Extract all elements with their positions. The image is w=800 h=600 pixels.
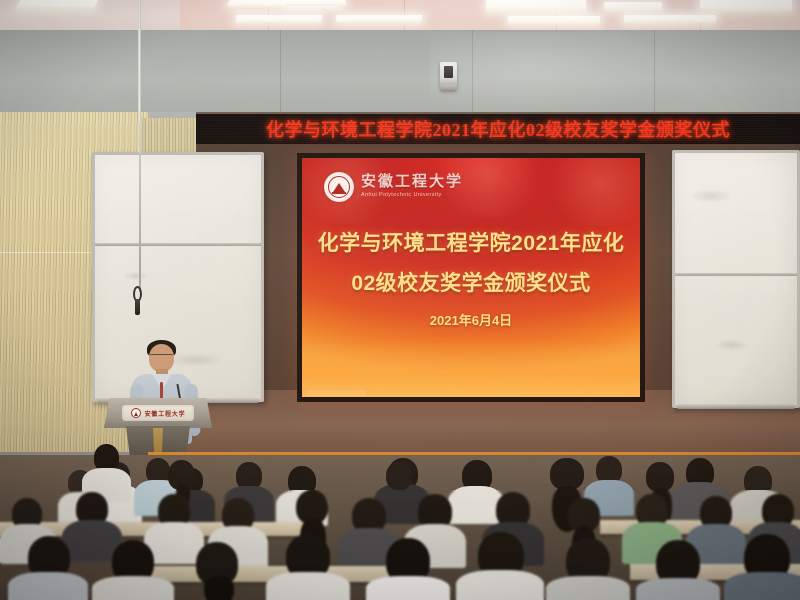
whiteboard-smudge xyxy=(123,271,149,281)
slide-title: 化学与环境工程学院2021年应化 02级校友奖学金颁奖仪式 xyxy=(302,224,640,304)
ceiling-light xyxy=(624,15,717,23)
seal-inner-ring xyxy=(328,176,350,198)
wall-mounted-projector-speaker xyxy=(440,62,457,90)
audience-person-body xyxy=(366,576,450,600)
upper-wall xyxy=(0,30,800,122)
whiteboard-smudge xyxy=(715,339,749,351)
audience-person-body xyxy=(456,570,544,600)
whiteboard-marker-tray xyxy=(677,404,795,409)
audience-person xyxy=(386,462,412,490)
audience-person-body xyxy=(546,576,630,600)
ceiling-light xyxy=(235,15,323,23)
logo-wordmark: 安徽工程大学 Anhui Polytechnic University xyxy=(361,175,463,199)
audience-person-body xyxy=(266,572,350,600)
slide-bottom-glow xyxy=(302,341,640,397)
slide-decor-floral xyxy=(536,158,640,226)
led-banner: 化学与环境工程学院2021年应化02级校友奖学金颁奖仪式 xyxy=(196,114,800,144)
ceiling-light xyxy=(335,15,422,23)
wall-highlight xyxy=(430,32,680,120)
slide-date: 2021年6月4日 xyxy=(302,310,640,329)
projection-screen: 安徽工程大学 Anhui Polytechnic University 化学与环… xyxy=(302,158,640,397)
whiteboard-divider xyxy=(675,273,797,276)
slide-title-line-2: 02级校友奖学金颁奖仪式 xyxy=(302,264,640,304)
slide-title-line-1: 化学与环境工程学院2021年应化 xyxy=(302,224,640,264)
logo-name-cn: 安徽工程大学 xyxy=(361,175,463,190)
ceiling-light xyxy=(286,0,346,6)
audience-person-body xyxy=(724,572,800,600)
whiteboard-smudge xyxy=(689,189,733,203)
audience-person-body xyxy=(92,576,174,600)
podium-plate-text: 安徽工程大学 xyxy=(145,409,186,418)
ceiling-hanging-rod xyxy=(138,0,141,122)
whiteboard-divider xyxy=(95,243,261,246)
audience-person-body xyxy=(636,578,720,600)
wall-seam xyxy=(280,30,281,122)
ceiling-light xyxy=(16,0,98,9)
led-banner-text: 化学与环境工程学院2021年应化02级校友奖学金颁奖仪式 xyxy=(266,116,730,142)
university-seal-icon xyxy=(324,172,354,202)
speaker-glasses-icon xyxy=(150,354,173,359)
device-grill xyxy=(442,83,455,87)
device-lens-icon xyxy=(444,66,453,78)
podium-seal-icon xyxy=(131,408,141,418)
audience-person-body xyxy=(8,572,88,600)
ceiling-light xyxy=(508,16,601,24)
ceiling-light xyxy=(700,0,792,11)
whiteboard-right xyxy=(672,150,800,408)
seal-bar xyxy=(332,192,346,194)
slide-taskbar-hint xyxy=(306,390,366,396)
podium-name-plate: 安徽工程大学 xyxy=(122,405,194,421)
photo-scene: 化学与环境工程学院2021年应化02级校友奖学金颁奖仪式 xyxy=(0,0,800,600)
audience-ponytail xyxy=(204,576,234,600)
ceiling-light xyxy=(486,0,586,12)
slide-university-logo: 安徽工程大学 Anhui Polytechnic University xyxy=(324,172,463,202)
seal-glyph xyxy=(333,183,345,192)
hanging-microphone xyxy=(135,299,140,315)
ceiling-light xyxy=(604,2,662,11)
hanging-microphone-cable xyxy=(139,122,141,292)
logo-name-en: Anhui Polytechnic University xyxy=(361,193,463,199)
